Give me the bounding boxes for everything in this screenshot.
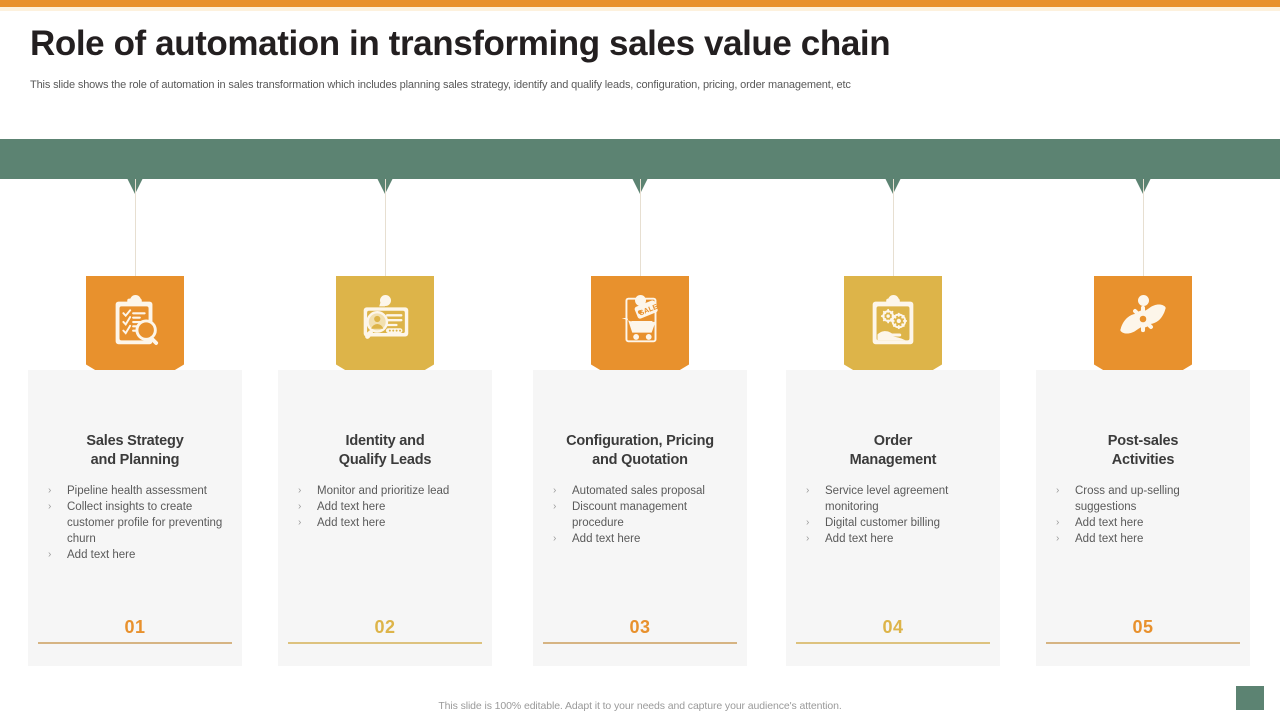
chevron-right-icon: ›	[553, 499, 556, 515]
stage-bullet-text: Service level agreement monitoring	[825, 485, 948, 513]
stage-card[interactable]: OrderManagement›Service level agreement …	[786, 370, 1000, 666]
stage-title: OrderManagement	[794, 432, 992, 470]
stage-title-line-1: Configuration, Pricing	[541, 432, 739, 451]
stage-bullet-list: ›Pipeline health assessment›Collect insi…	[48, 483, 234, 563]
chevron-right-icon: ›	[553, 483, 556, 499]
stage-bullet-text: Monitor and prioritize lead	[317, 485, 449, 497]
slide-header: Role of automation in transforming sales…	[30, 22, 1250, 92]
chevron-right-icon: ›	[48, 483, 51, 499]
top-accent-bar	[0, 0, 1280, 7]
stage-bullet-text: Automated sales proposal	[572, 485, 705, 497]
stage-bullet-item: ›Add text here	[48, 547, 234, 563]
stage-bullet-text: Add text here	[572, 533, 640, 545]
stage-title-line-2: and Planning	[36, 451, 234, 470]
stage-bullet-item: ›Digital customer billing	[806, 515, 992, 531]
stage-card[interactable]: Post-salesActivities›Cross and up-sellin…	[1036, 370, 1250, 666]
stage-bullet-text: Collect insights to create customer prof…	[67, 501, 222, 545]
stage-number: 05	[1036, 617, 1250, 638]
stage-number: 01	[28, 617, 242, 638]
chevron-right-icon: ›	[298, 499, 301, 515]
corner-color-swatch	[1236, 686, 1264, 710]
stage-bullet-list: ›Cross and up-selling suggestions›Add te…	[1056, 483, 1242, 547]
page-subtitle: This slide shows the role of automation …	[30, 66, 1250, 92]
stage-bullet-text: Add text here	[1075, 533, 1143, 545]
stage-title-line-2: Qualify Leads	[286, 451, 484, 470]
stage-bullet-text: Add text here	[67, 549, 135, 561]
stage-number: 03	[533, 617, 747, 638]
stage-bullet-item: ›Add text here	[298, 515, 484, 531]
stage-bullet-text: Add text here	[825, 533, 893, 545]
stage-title-line-2: Activities	[1044, 451, 1242, 470]
stage-title-line-1: Identity and	[286, 432, 484, 451]
chevron-right-icon: ›	[806, 483, 809, 499]
stage-title: Identity andQualify Leads	[286, 432, 484, 470]
page-title: Role of automation in transforming sales…	[30, 22, 1250, 66]
stage-bullet-item: ›Add text here	[1056, 531, 1242, 547]
stage-underline	[38, 642, 232, 644]
stage-bullet-item: ›Collect insights to create customer pro…	[48, 499, 234, 547]
stage-bullet-text: Add text here	[1075, 517, 1143, 529]
thread-ball	[888, 295, 899, 306]
stage-bullet-item: ›Cross and up-selling suggestions	[1056, 483, 1242, 515]
stage-bullet-item: ›Add text here	[553, 531, 739, 547]
stage-title-line-1: Sales Strategy	[36, 432, 234, 451]
stage-card[interactable]: Sales Strategyand Planning›Pipeline heal…	[28, 370, 242, 666]
green-banner-bar	[0, 139, 1280, 179]
chevron-right-icon: ›	[1056, 483, 1059, 499]
stage-title-line-1: Post-sales	[1044, 432, 1242, 451]
thread-ball	[1138, 295, 1149, 306]
stage-bullet-item: ›Add text here	[1056, 515, 1242, 531]
stage-bullet-item: ›Add text here	[298, 499, 484, 515]
stage-bullet-item: ›Add text here	[806, 531, 992, 547]
stage-bullet-item: ›Monitor and prioritize lead	[298, 483, 484, 499]
stage-underline	[1046, 642, 1240, 644]
footer-note: This slide is 100% editable. Adapt it to…	[0, 700, 1280, 712]
stage-bullet-text: Digital customer billing	[825, 517, 940, 529]
stage-bullet-list: ›Service level agreement monitoring›Digi…	[806, 483, 992, 547]
stage-underline	[796, 642, 990, 644]
stage-bullet-text: Add text here	[317, 501, 385, 513]
stage-title-line-2: and Quotation	[541, 451, 739, 470]
stage-title-line-1: Order	[794, 432, 992, 451]
thread-ball	[380, 295, 391, 306]
stage-title-line-2: Management	[794, 451, 992, 470]
stage-card[interactable]: Configuration, Pricingand Quotation›Auto…	[533, 370, 747, 666]
stage-column-01: Sales Strategyand Planning›Pipeline heal…	[28, 370, 242, 666]
stage-bullet-list: ›Monitor and prioritize lead›Add text he…	[298, 483, 484, 531]
stage-number: 04	[786, 617, 1000, 638]
chevron-right-icon: ›	[1056, 531, 1059, 547]
stage-bullet-item: ›Service level agreement monitoring	[806, 483, 992, 515]
thread-ball	[635, 295, 646, 306]
stage-bullet-text: Pipeline health assessment	[67, 485, 207, 497]
stage-underline	[543, 642, 737, 644]
stage-title: Sales Strategyand Planning	[36, 432, 234, 470]
chevron-right-icon: ›	[806, 531, 809, 547]
thread-ball	[130, 295, 141, 306]
stage-bullet-text: Cross and up-selling suggestions	[1075, 485, 1180, 513]
stage-number: 02	[278, 617, 492, 638]
stage-bullet-item: ›Automated sales proposal	[553, 483, 739, 499]
stage-underline	[288, 642, 482, 644]
stage-column-03: Configuration, Pricingand Quotation›Auto…	[533, 370, 747, 666]
chevron-right-icon: ›	[806, 515, 809, 531]
stage-bullet-item: ›Discount management procedure	[553, 499, 739, 531]
stage-bullet-text: Add text here	[317, 517, 385, 529]
stage-title: Post-salesActivities	[1044, 432, 1242, 470]
stage-card[interactable]: Identity andQualify Leads›Monitor and pr…	[278, 370, 492, 666]
chevron-right-icon: ›	[553, 531, 556, 547]
stage-column-02: Identity andQualify Leads›Monitor and pr…	[278, 370, 492, 666]
stage-column-04: OrderManagement›Service level agreement …	[786, 370, 1000, 666]
stage-bullet-list: ›Automated sales proposal›Discount manag…	[553, 483, 739, 547]
stage-bullet-item: ›Pipeline health assessment	[48, 483, 234, 499]
stage-bullet-text: Discount management procedure	[572, 501, 687, 529]
chevron-right-icon: ›	[48, 547, 51, 563]
stage-column-05: Post-salesActivities›Cross and up-sellin…	[1036, 370, 1250, 666]
top-accent-bar-soft	[0, 7, 1280, 11]
chevron-right-icon: ›	[298, 483, 301, 499]
stage-title: Configuration, Pricingand Quotation	[541, 432, 739, 470]
chevron-right-icon: ›	[1056, 515, 1059, 531]
chevron-right-icon: ›	[298, 515, 301, 531]
chevron-right-icon: ›	[48, 499, 51, 515]
